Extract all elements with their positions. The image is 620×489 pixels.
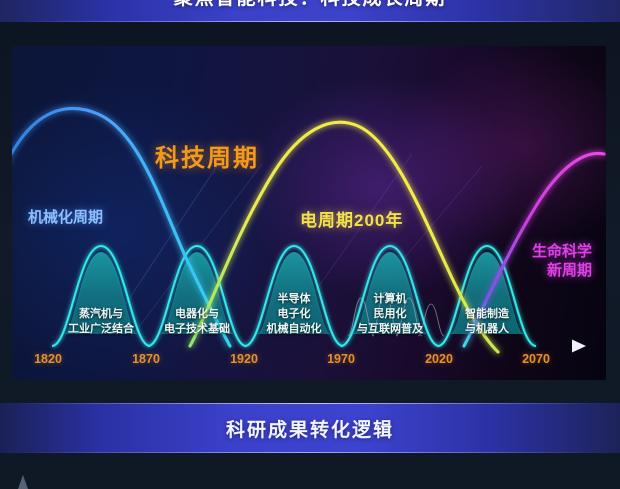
technology-cycle-chart: 机械化周期 科技周期 电周期200年 生命科学 新周期 蒸汽机与 工业广泛结合 … [12, 46, 606, 380]
axis-tick-2020: 2020 [425, 352, 453, 366]
bottom-banner: 科研成果转化逻辑 [0, 403, 620, 453]
axis-tick-1920: 1920 [230, 352, 258, 366]
scroll-indicator-icon [18, 475, 28, 489]
axis-tick-1820: 1820 [34, 352, 62, 366]
series-curve-electric [190, 122, 498, 352]
top-banner-title: 聚焦智能科技：科技成长周期 [173, 0, 446, 10]
page-background: 聚焦智能科技：科技成长周期 [0, 0, 620, 489]
top-banner: 聚焦智能科技：科技成长周期 [0, 0, 620, 22]
chart-canvas [12, 46, 606, 380]
axis-tick-2070: 2070 [522, 352, 550, 366]
axis-tick-1870: 1870 [132, 352, 160, 366]
axis-tick-1970: 1970 [327, 352, 355, 366]
bottom-banner-title: 科研成果转化逻辑 [226, 415, 394, 442]
time-axis [46, 340, 586, 353]
